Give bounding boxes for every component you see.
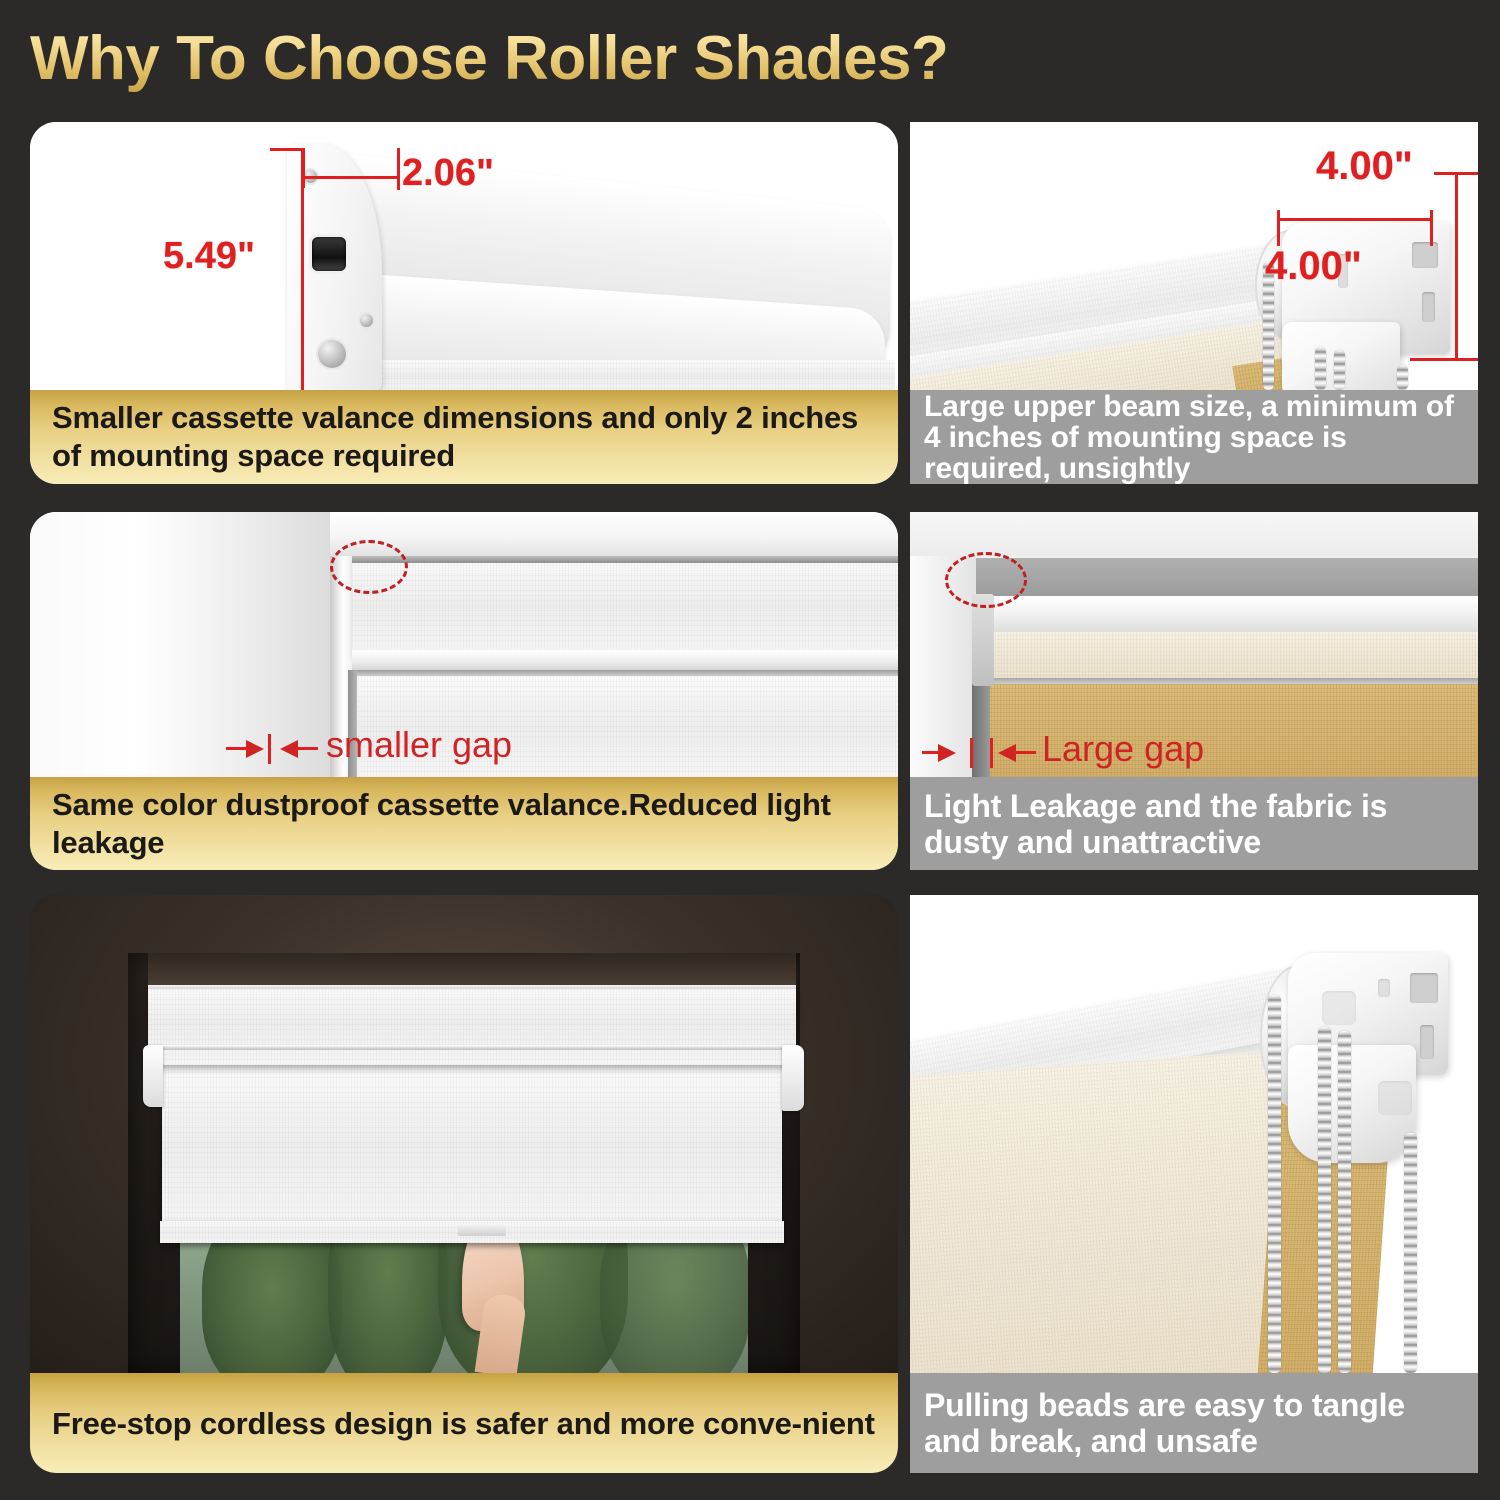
cassette-top-shadow	[148, 953, 796, 985]
bracket-notch-upper	[1410, 973, 1438, 1003]
cassette-valance-head	[148, 983, 796, 1065]
panel-good-dustproof-photo: smaller gap	[30, 512, 898, 777]
large-gap-label: Large gap	[1042, 728, 1204, 770]
gap-marker-tick-a	[970, 738, 973, 768]
infographic-root: Why To Choose Roller Shades?	[0, 0, 1500, 1500]
gap-marker-tick	[268, 734, 271, 764]
beam-width-tick-left	[1277, 210, 1280, 246]
dustproof-cassette-valance	[352, 556, 898, 656]
bracket-screw-bottom	[318, 340, 346, 368]
panel-good-cordless: Free-stop cordless design is safer and m…	[30, 895, 898, 1473]
window-casing-top	[330, 512, 898, 556]
panel-bad-beam-photo: 4.00" 4.00"	[910, 122, 1478, 390]
shade-fabric-panel	[162, 1063, 782, 1228]
beam-width-bar	[1277, 218, 1433, 221]
valance-top-lip	[352, 556, 898, 563]
panel-bad-lightleak: Large gap Light Leakage and the fabric i…	[910, 512, 1478, 870]
gap-arrow-left-tail	[226, 747, 250, 750]
light-leak-highlight-circle	[945, 552, 1027, 608]
panel-bad-lightleak-photo: Large gap	[910, 512, 1478, 777]
bottom-rail-pull-tab	[458, 1225, 506, 1236]
roller-tube-bar	[980, 596, 1478, 636]
cassette-seam-line	[150, 1045, 794, 1050]
width-dimension-bar	[302, 176, 399, 179]
bead-chain-far-right	[1397, 365, 1408, 390]
ceiling-strip	[910, 512, 1478, 556]
beam-height-label: 4.00"	[1265, 244, 1362, 289]
caption-text: Same color dustproof cassette valance.Re…	[52, 786, 876, 862]
panel-good-dustproof-caption: Same color dustproof cassette valance.Re…	[30, 777, 898, 870]
bracket-notch-lower	[1422, 292, 1435, 322]
width-tick-right	[397, 148, 400, 190]
bracket-mount-hole	[1378, 979, 1390, 997]
panel-bad-lightleak-caption: Light Leakage and the fabric is dusty an…	[910, 777, 1478, 870]
gap-marker-tick-b	[990, 738, 993, 768]
smaller-gap-label: smaller gap	[326, 724, 512, 766]
bead-chain-right	[1334, 350, 1345, 390]
bracket-arrow-glyph-upper	[1322, 991, 1356, 1025]
gap-arrow-right-tail	[1014, 751, 1036, 754]
panel-good-cassette-photo: 2.06" 5.49"	[30, 122, 898, 390]
caption-text: Large upper beam size, a minimum of 4 in…	[924, 391, 1464, 484]
bead-chain-4	[1404, 1133, 1417, 1373]
bracket-notch-lower	[1420, 1025, 1434, 1059]
bracket-notch-upper	[1412, 242, 1438, 268]
cassette-endcap-right	[782, 1045, 804, 1111]
cream-fabric-band	[980, 632, 1478, 680]
bead-chain-1	[1268, 995, 1281, 1373]
panel-bad-beam: 4.00" 4.00" Large upper beam size, a min…	[910, 122, 1478, 484]
panel-good-cordless-photo	[30, 895, 898, 1373]
width-dimension-label: 2.06"	[402, 152, 494, 195]
beam-width-tick-right	[1430, 210, 1433, 246]
panel-bad-beads-caption: Pulling beads are easy to tangle and bre…	[910, 1373, 1478, 1473]
bead-chain-3	[1338, 1031, 1351, 1373]
free-stop-mechanism-slot	[312, 237, 346, 271]
height-dimension-bar	[301, 148, 304, 390]
valance-bottom-lip	[352, 650, 898, 670]
panel-good-cordless-caption: Free-stop cordless design is safer and m…	[30, 1373, 898, 1473]
bead-chain-2	[1318, 1027, 1331, 1373]
caption-text: Free-stop cordless design is safer and m…	[52, 1404, 876, 1443]
valance-seal-highlight-circle	[330, 540, 408, 594]
cassette-endcap-left	[143, 1045, 163, 1107]
panel-good-dustproof: smaller gap Same color dustproof cassett…	[30, 512, 898, 870]
caption-text: Pulling beads are easy to tangle and bre…	[924, 1387, 1464, 1459]
panel-bad-beads: Pulling beads are easy to tangle and bre…	[910, 895, 1478, 1473]
gap-arrow-left-tail	[922, 751, 942, 754]
window-casing-left	[30, 512, 330, 777]
page-title: Why To Choose Roller Shades?	[30, 18, 1230, 100]
shade-fabric-drop	[295, 360, 895, 390]
panel-good-cassette: 2.06" 5.49" Smaller cassette valance dim…	[30, 122, 898, 484]
beam-height-tick-bottom	[1410, 358, 1478, 361]
panel-bad-beads-photo	[910, 895, 1478, 1373]
height-dimension-label: 5.49"	[163, 235, 255, 278]
bead-chain-mid	[1315, 347, 1326, 390]
height-tick-top	[270, 148, 304, 151]
gap-arrow-right-tail	[296, 747, 318, 750]
beam-shadow-band	[976, 558, 1478, 600]
beam-height-bar	[1455, 172, 1458, 360]
caption-text: Light Leakage and the fabric is dusty an…	[924, 788, 1464, 860]
beam-width-label: 4.00"	[1316, 144, 1413, 189]
bracket-arrow-glyph-lower	[1378, 1081, 1412, 1115]
bracket-screw-mid	[360, 314, 373, 327]
panel-good-cassette-caption: Smaller cassette valance dimensions and …	[30, 390, 898, 484]
beam-height-tick-top	[1434, 172, 1478, 175]
caption-text: Smaller cassette valance dimensions and …	[52, 399, 876, 475]
panel-bad-beam-caption: Large upper beam size, a minimum of 4 in…	[910, 390, 1478, 484]
